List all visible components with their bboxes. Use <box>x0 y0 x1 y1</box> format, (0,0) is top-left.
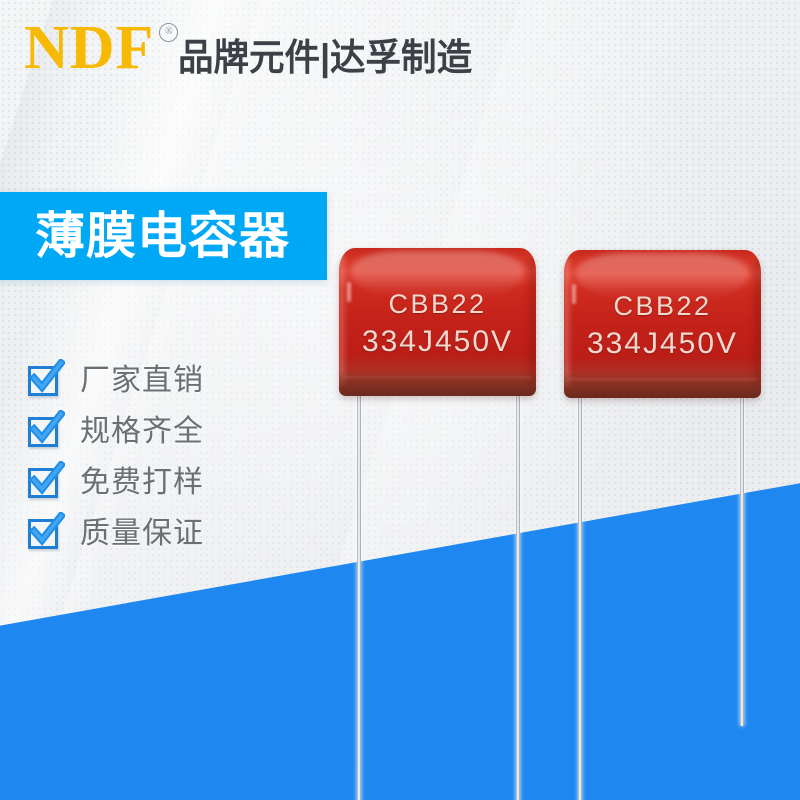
product-category-label: 薄膜电容器 <box>27 210 290 262</box>
capacitor-body <box>564 250 761 398</box>
feature-label: 厂家直销 <box>80 364 204 398</box>
checkbox-checked-icon <box>28 415 62 449</box>
feature-list: 厂家直销 规格齐全 免费打样 <box>28 356 204 560</box>
product-category-banner: 薄膜电容器 <box>0 192 327 280</box>
product-banner-image: NDF ® 品牌元件|达孚制造 薄膜电容器 厂家直销 <box>0 0 800 800</box>
capacitor-specular-dot <box>347 282 351 302</box>
feature-item: 规格齐全 <box>28 407 204 456</box>
capacitor-lead <box>740 396 744 726</box>
capacitor-body <box>339 248 536 396</box>
logo-wordmark: NDF <box>24 17 154 79</box>
header: NDF ® 品牌元件|达孚制造 <box>0 0 800 105</box>
feature-item: 质量保证 <box>28 509 204 558</box>
checkbox-checked-icon <box>28 466 62 500</box>
capacitor-foot-band <box>564 372 761 398</box>
feature-label: 免费打样 <box>80 466 204 500</box>
capacitor-gloss-highlight <box>351 251 524 297</box>
capacitor-edge-light <box>339 256 348 386</box>
capacitor-specular-dot <box>572 284 576 304</box>
feature-label: 规格齐全 <box>80 415 204 449</box>
brand-tagline: 品牌元件|达孚制造 <box>178 36 472 80</box>
feature-item: 免费打样 <box>28 458 204 507</box>
brand-logo: NDF ® <box>24 17 178 79</box>
capacitor-gloss-highlight <box>576 253 749 299</box>
checkbox-checked-icon <box>28 517 62 551</box>
capacitor-lead <box>357 394 361 800</box>
capacitor-lead <box>578 396 582 800</box>
capacitor-edge-shadow <box>524 258 536 384</box>
capacitor-lead <box>516 394 520 800</box>
capacitor-foot-band <box>339 370 536 396</box>
feature-label: 质量保证 <box>80 517 204 551</box>
checkbox-checked-icon <box>28 364 62 398</box>
capacitor-edge-light <box>564 258 573 388</box>
capacitor-edge-shadow <box>749 260 761 386</box>
registered-trademark-icon: ® <box>159 23 178 42</box>
feature-item: 厂家直销 <box>28 356 204 405</box>
